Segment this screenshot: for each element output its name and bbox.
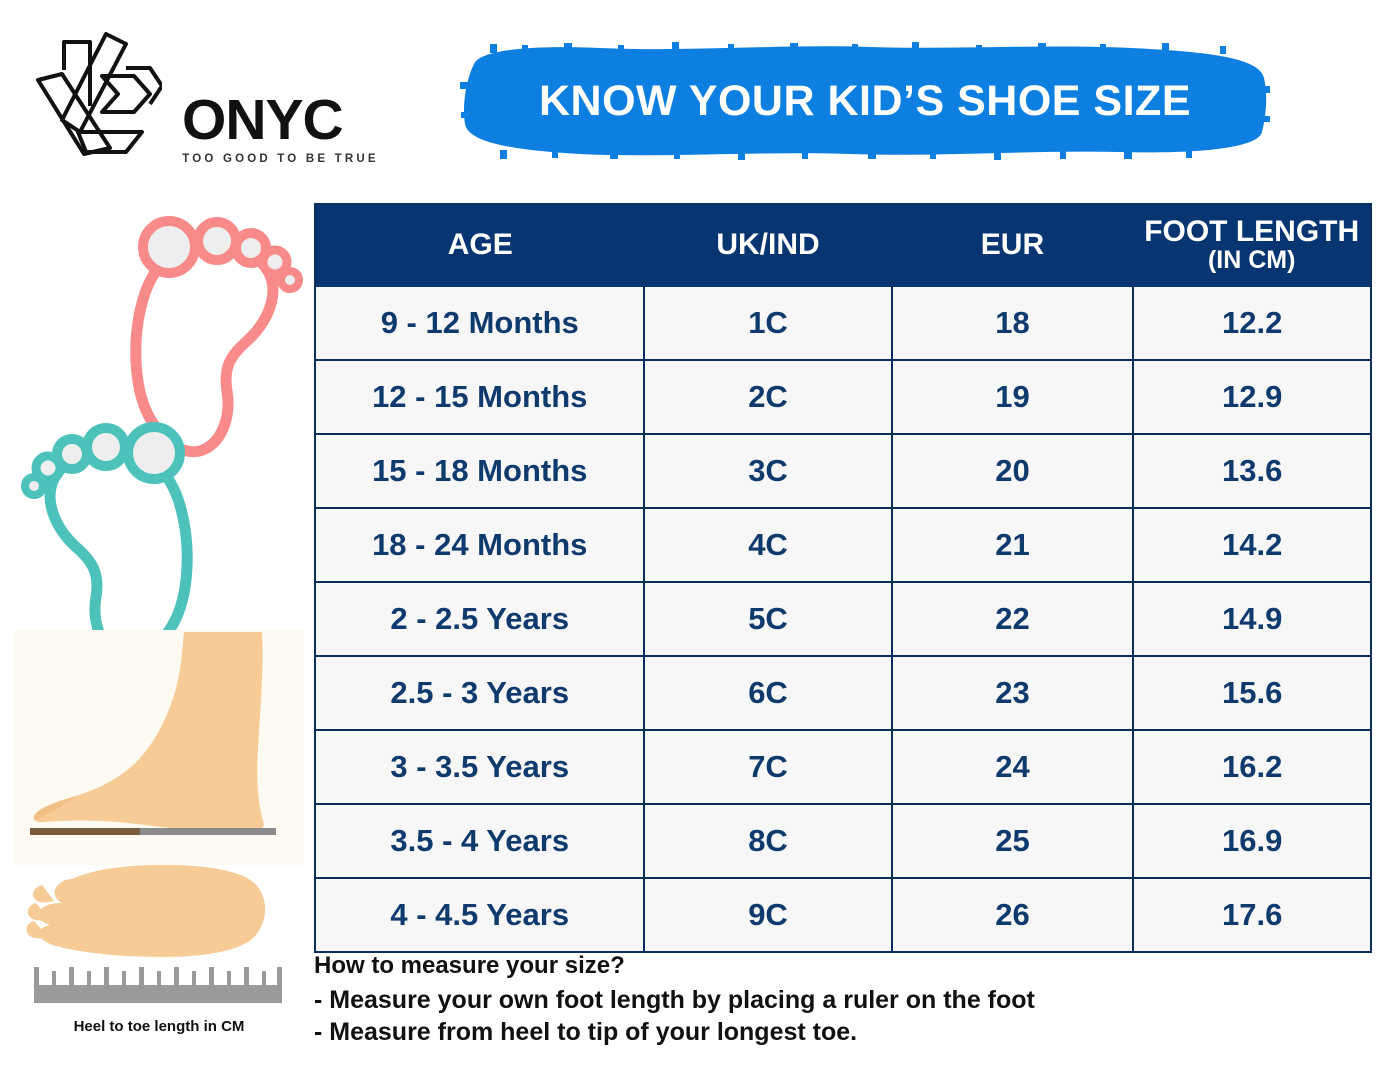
column-header-age: AGE <box>315 204 644 287</box>
page-title: KNOW YOUR KID’S SHOE SIZE <box>460 42 1270 160</box>
table-header-row: AGE UK/IND EUR FOOT LENGTH (IN CM) <box>315 204 1371 287</box>
size-cell-age: 3.5 - 4 Years <box>315 804 644 878</box>
size-cell-age: 2.5 - 3 Years <box>315 656 644 730</box>
how-to-measure-bullet-1: - Measure your own foot length by placin… <box>314 986 1264 1015</box>
size-cell-age: 3 - 3.5 Years <box>315 730 644 804</box>
size-cell-eur: 23 <box>892 656 1134 730</box>
size-cell-eur: 24 <box>892 730 1134 804</box>
table-row: 12 - 15 Months2C1912.9 <box>315 360 1371 434</box>
size-cell-uk: 4C <box>644 508 891 582</box>
size-cell-foot-length: 17.6 <box>1133 878 1371 952</box>
size-cell-eur: 19 <box>892 360 1134 434</box>
foot-side-view-icon <box>14 630 304 865</box>
size-cell-foot-length: 14.9 <box>1133 582 1371 656</box>
how-to-measure-question: How to measure your size? <box>314 952 1264 980</box>
table-row: 15 - 18 Months3C2013.6 <box>315 434 1371 508</box>
size-cell-age: 4 - 4.5 Years <box>315 878 644 952</box>
column-header-foot-length-unit: (IN CM) <box>1137 248 1366 274</box>
table-row: 18 - 24 Months4C2114.2 <box>315 508 1371 582</box>
size-cell-age: 9 - 12 Months <box>315 287 644 360</box>
size-cell-uk: 9C <box>644 878 891 952</box>
column-header-foot-length-main: FOOT LENGTH <box>1144 215 1359 248</box>
table-row: 9 - 12 Months1C1812.2 <box>315 287 1371 360</box>
size-cell-foot-length: 12.2 <box>1133 287 1371 360</box>
size-cell-foot-length: 13.6 <box>1133 434 1371 508</box>
brand-logo: ONYC TOO GOOD TO BE TRUE <box>30 28 390 168</box>
shoe-size-table: AGE UK/IND EUR FOOT LENGTH (IN CM) 9 - 1… <box>314 203 1372 953</box>
size-cell-age: 18 - 24 Months <box>315 508 644 582</box>
size-cell-eur: 21 <box>892 508 1134 582</box>
size-cell-uk: 8C <box>644 804 891 878</box>
brand-tagline: TOO GOOD TO BE TRUE <box>182 153 379 165</box>
page-title-banner: KNOW YOUR KID’S SHOE SIZE <box>460 42 1270 160</box>
table-row: 3 - 3.5 Years7C2416.2 <box>315 730 1371 804</box>
size-cell-age: 2 - 2.5 Years <box>315 582 644 656</box>
size-cell-eur: 22 <box>892 582 1134 656</box>
size-cell-uk: 1C <box>644 287 891 360</box>
size-cell-foot-length: 14.2 <box>1133 508 1371 582</box>
how-to-measure-bullet-2: - Measure from heel to tip of your longe… <box>314 1018 1264 1047</box>
brand-wordmark: ONYC <box>182 94 392 146</box>
baby-footprints-icon <box>18 205 310 645</box>
ruler-caption: Heel to toe length in CM <box>14 1018 304 1035</box>
foot-top-view-icon <box>14 855 304 1020</box>
size-cell-uk: 5C <box>644 582 891 656</box>
column-header-uk: UK/IND <box>644 204 891 287</box>
size-cell-uk: 2C <box>644 360 891 434</box>
table-row: 2.5 - 3 Years6C2315.6 <box>315 656 1371 730</box>
size-cell-uk: 7C <box>644 730 891 804</box>
size-cell-age: 15 - 18 Months <box>315 434 644 508</box>
size-cell-foot-length: 12.9 <box>1133 360 1371 434</box>
size-cell-age: 12 - 15 Months <box>315 360 644 434</box>
table-row: 3.5 - 4 Years8C2516.9 <box>315 804 1371 878</box>
column-header-foot-length: FOOT LENGTH (IN CM) <box>1133 204 1371 287</box>
size-cell-eur: 18 <box>892 287 1134 360</box>
size-cell-eur: 25 <box>892 804 1134 878</box>
size-cell-eur: 20 <box>892 434 1134 508</box>
size-cell-foot-length: 16.9 <box>1133 804 1371 878</box>
table-row: 4 - 4.5 Years9C2617.6 <box>315 878 1371 952</box>
size-cell-foot-length: 16.2 <box>1133 730 1371 804</box>
size-cell-eur: 26 <box>892 878 1134 952</box>
table-row: 2 - 2.5 Years5C2214.9 <box>315 582 1371 656</box>
onyc-monogram-icon <box>30 28 162 160</box>
how-to-measure-section: How to measure your size? - Measure your… <box>314 952 1264 1050</box>
size-cell-uk: 3C <box>644 434 891 508</box>
size-cell-foot-length: 15.6 <box>1133 656 1371 730</box>
column-header-eur: EUR <box>892 204 1134 287</box>
size-cell-uk: 6C <box>644 656 891 730</box>
